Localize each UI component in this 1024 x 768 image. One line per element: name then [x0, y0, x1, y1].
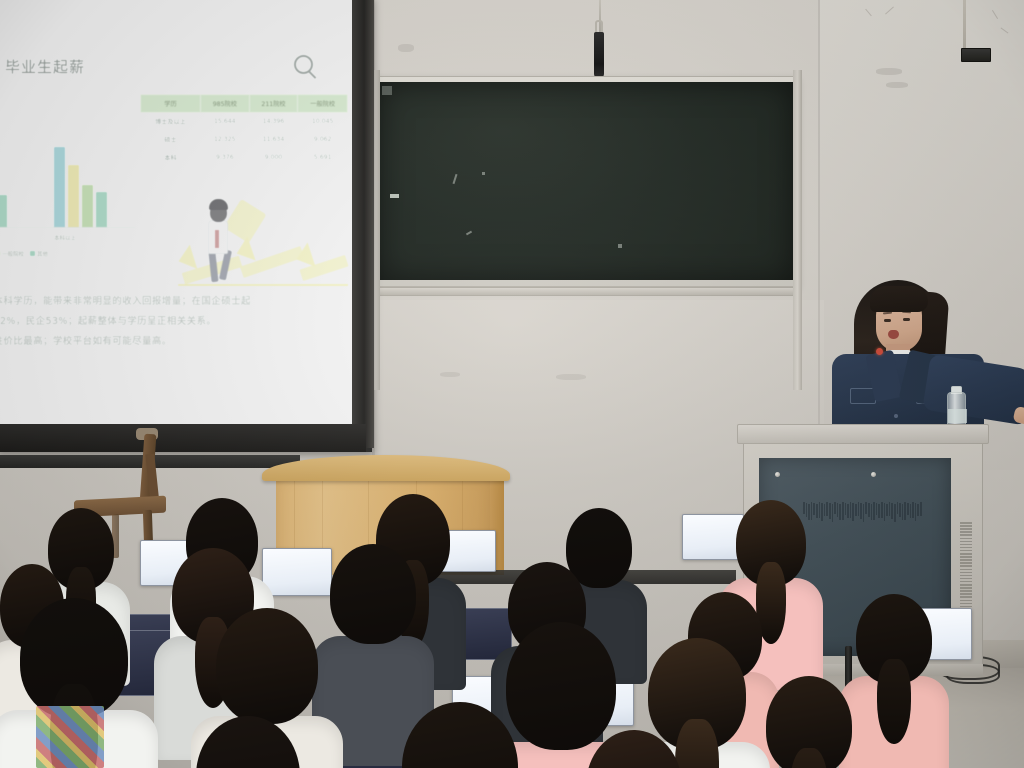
device-cord [963, 0, 966, 50]
screen-bottom-bar [0, 424, 366, 452]
cell: 9,376 [200, 149, 249, 167]
cell: 12,325 [200, 131, 249, 149]
wall-mounted-device [961, 48, 991, 62]
table-row: 本科 9,376 9,000 5,691 [141, 149, 348, 167]
illustration-ground [178, 284, 348, 286]
cell: 硕士 [141, 131, 201, 149]
wall-scuff [440, 372, 460, 377]
wall-scuff [886, 82, 908, 88]
student-head [330, 544, 416, 644]
podium-screw [775, 472, 780, 477]
arrow-head [175, 244, 198, 274]
chart-bar [54, 147, 65, 227]
bar-group-label: 本科以上 [54, 234, 76, 242]
col-header: 985院校 [200, 95, 249, 113]
legend-item: 其他 [30, 250, 48, 258]
salary-bar-chart: 硕士及以上本科以上985院校211院校一般院校其他 [0, 130, 136, 250]
search-icon[interactable] [294, 55, 313, 74]
chalkboard-surface [380, 82, 793, 280]
slide-search-bar[interactable]: 毕业生起薪 [0, 46, 332, 84]
cell: 9,000 [249, 149, 298, 167]
clip-microphone [876, 348, 883, 355]
projected-slide: 毕业生起薪 学历 985院校 211院校 一般院校 博士及以上 15,644 1… [0, 0, 354, 426]
cell: 15,644 [200, 113, 249, 131]
wall-scuff [556, 374, 586, 380]
chart-bar [0, 195, 7, 227]
cell: 10,045 [298, 113, 348, 131]
podium-screw [871, 472, 876, 477]
presenter-eye [903, 318, 910, 321]
laptop-screen [262, 548, 332, 596]
chart-baseline [0, 227, 136, 228]
student-laptop [682, 514, 744, 560]
chalk-mark [618, 244, 622, 248]
cell: 本科 [141, 149, 201, 167]
chalkboard [374, 76, 799, 287]
salary-table: 学历 985院校 211院校 一般院校 博士及以上 15,644 14,396 … [140, 94, 348, 167]
student-head [566, 508, 632, 588]
student-laptop [262, 548, 332, 596]
chart-bar [68, 165, 79, 227]
chalk-mark [466, 231, 472, 236]
bar-group [0, 167, 7, 227]
podium-top-surface [737, 424, 989, 444]
cell: 14,396 [249, 113, 298, 131]
cell: 博士及以上 [141, 113, 201, 131]
person-hair [209, 199, 228, 210]
cell: 5,691 [298, 149, 348, 167]
slide-body-text: 士学历相对本科学历，能带来非常明显的收入回报增量；在国企硕士起 企（合资）42%… [0, 292, 344, 352]
legend-item: 一般院校 [0, 250, 24, 258]
cell: 11,634 [249, 131, 298, 149]
wall-scuff [398, 44, 414, 52]
laptop-screen [682, 514, 744, 560]
person-tie [215, 230, 219, 248]
slide-text-line: 士学历相对本科学历，能带来非常明显的收入回报增量；在国企硕士起 [0, 292, 344, 312]
chart-bar [82, 185, 93, 227]
lectern-top [262, 455, 510, 481]
screen-edge-right [352, 0, 374, 448]
col-header: 211院校 [249, 95, 298, 113]
person-leg [208, 252, 218, 283]
arrow-shaft [223, 199, 266, 244]
chalk-tray [372, 287, 801, 296]
table-header-row: 学历 985院校 211院校 一般院校 [141, 95, 348, 113]
student-audience [0, 480, 1024, 768]
wall-seam [818, 0, 820, 470]
presenter-fringe [870, 286, 928, 312]
arrow-head [292, 242, 315, 272]
student-head [506, 622, 616, 750]
presenter-eye [884, 319, 891, 322]
chart-legend: 985院校211院校一般院校其他 [0, 250, 48, 258]
lecture-hall-photo: 毕业生起薪 学历 985院校 211院校 一般院校 博士及以上 15,644 1… [0, 0, 1024, 768]
bottle-label [948, 409, 967, 423]
chalk-mark [382, 86, 392, 95]
col-header: 学历 [141, 95, 201, 113]
chalk-mark [390, 194, 399, 198]
table-row: 硕士 12,325 11,634 9,062 [141, 131, 348, 149]
slide-search-query: 毕业生起薪 [5, 56, 85, 77]
student-ponytail [877, 659, 910, 745]
legend-swatch [30, 251, 35, 256]
chart-bar [96, 192, 107, 227]
board-side-rail-right [793, 70, 802, 390]
slide-text-line: 企（合资）42%，民企53%；起薪整体与学历呈正相关关系。 [0, 312, 344, 332]
shirt-graphic [36, 706, 104, 768]
hanging-cable-clip [594, 32, 604, 78]
slide-illustration [178, 170, 348, 298]
chalk-mark [482, 172, 485, 175]
student-head [216, 608, 318, 724]
wall-scuff [876, 68, 902, 75]
chalk-mark [453, 174, 458, 184]
presenter [826, 278, 1024, 438]
bar-group [54, 147, 107, 227]
presenter-mouth [888, 330, 899, 339]
slide-text-line: 份进入职场性价比最高；学校平台如有可能尽量高。 [0, 332, 344, 352]
cell: 9,062 [298, 131, 348, 149]
col-header: 一般院校 [298, 95, 348, 113]
jacket-button [894, 414, 898, 418]
table-row: 博士及以上 15,644 14,396 10,045 [141, 113, 348, 131]
